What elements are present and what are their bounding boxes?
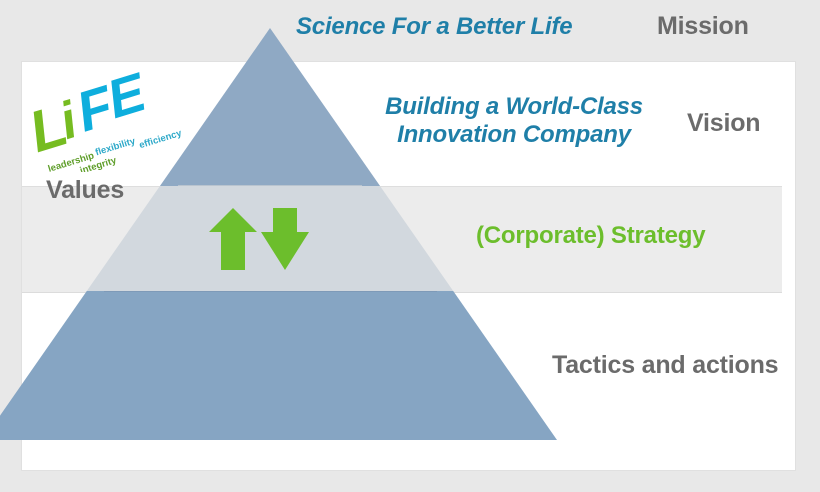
tactics-label: Tactics and actions: [552, 351, 778, 381]
values-label: Values: [46, 176, 124, 206]
arrow-down-icon: [261, 208, 309, 270]
mission-label: Mission: [657, 12, 749, 42]
slide-canvas: L i F E leadership flexibility integrity…: [0, 0, 820, 492]
vision-label: Vision: [687, 109, 760, 139]
life-logo-word-efficiency: efficiency: [138, 128, 181, 152]
vision-statement: Building a World-Class Innovation Compan…: [374, 93, 654, 150]
vision-statement-line1: Building a World-Class: [385, 93, 643, 120]
vision-statement-line2: Innovation Company: [397, 121, 631, 148]
strategy-label: (Corporate) Strategy: [476, 222, 705, 250]
mission-statement: Science For a Better Life: [296, 13, 572, 41]
arrow-up-icon: [209, 208, 257, 270]
life-logo: L i F E leadership flexibility integrity…: [26, 72, 181, 172]
strategy-arrows: [207, 206, 317, 274]
